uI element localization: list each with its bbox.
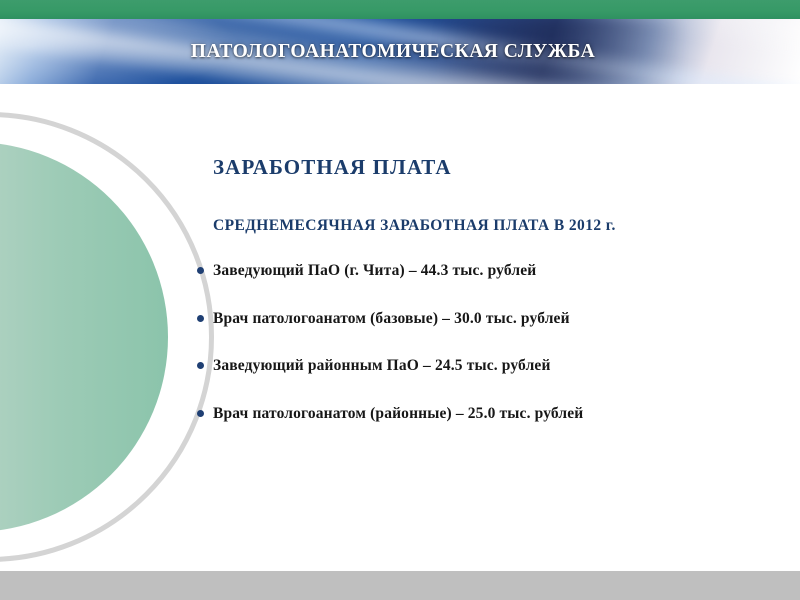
list-item-label: Заведующий ПаО (г. Чита) – 44.3 тыс. руб… [213, 262, 536, 280]
salary-bullet-list: Заведующий ПаО (г. Чита) – 44.3 тыс. руб… [197, 262, 777, 452]
bullet-dot-icon [197, 315, 204, 322]
list-item: Врач патологоанатом (районные) – 25.0 ты… [197, 405, 777, 453]
banner-title: ПАТОЛОГОАНАТОМИЧЕСКАЯ СЛУЖБА [0, 19, 800, 84]
list-item: Заведующий районным ПаО – 24.5 тыс. рубл… [197, 357, 777, 405]
list-item-label: Врач патологоанатом (районные) – 25.0 ты… [213, 405, 583, 423]
slide-canvas: ПАТОЛОГОАНАТОМИЧЕСКАЯ СЛУЖБА ЗАРАБОТНАЯ … [0, 0, 800, 600]
header-green-strip [0, 0, 800, 19]
list-item-label: Заведующий районным ПаО – 24.5 тыс. рубл… [213, 357, 551, 375]
slide-content: ЗАРАБОТНАЯ ПЛАТА СРЕДНЕМЕСЯЧНАЯ ЗАРАБОТН… [0, 84, 800, 571]
bullet-dot-icon [197, 362, 204, 369]
footer-bar [0, 571, 800, 600]
list-item: Заведующий ПаО (г. Чита) – 44.3 тыс. руб… [197, 262, 777, 310]
bullet-dot-icon [197, 267, 204, 274]
bullet-dot-icon [197, 410, 204, 417]
page-title: ЗАРАБОТНАЯ ПЛАТА [213, 155, 452, 180]
list-item-label: Врач патологоанатом (базовые) – 30.0 тыс… [213, 310, 570, 328]
page-subtitle: СРЕДНЕМЕСЯЧНАЯ ЗАРАБОТНАЯ ПЛАТА В 2012 г… [213, 217, 616, 235]
list-item: Врач патологоанатом (базовые) – 30.0 тыс… [197, 310, 777, 358]
header-banner: ПАТОЛОГОАНАТОМИЧЕСКАЯ СЛУЖБА [0, 19, 800, 84]
